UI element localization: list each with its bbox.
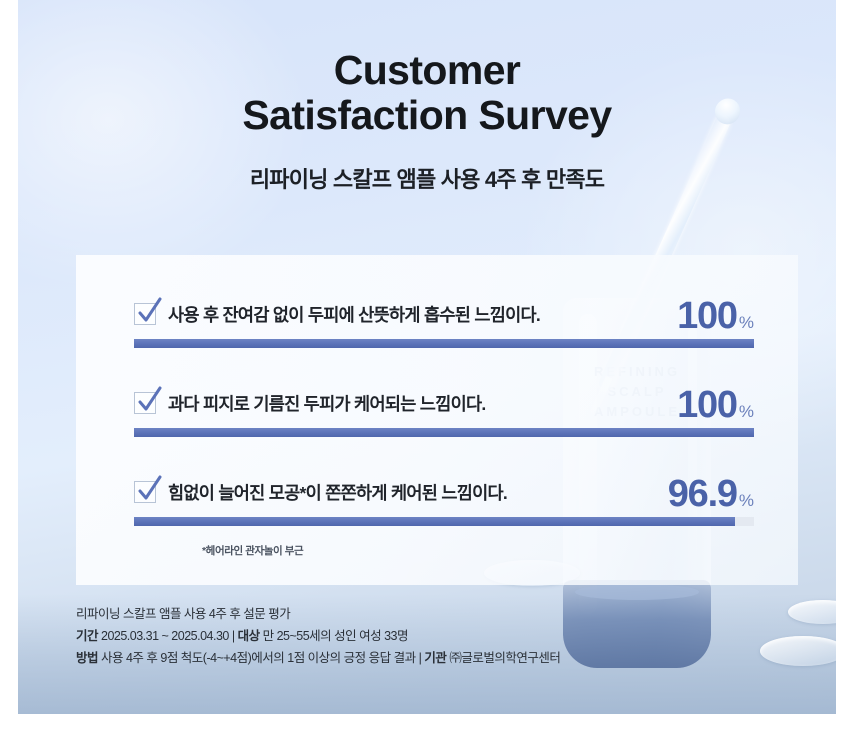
method-value: 사용 4주 후 9점 척도(-4~+4점)에서의 1점 이상의 긍정 응답 결과 [101,651,416,665]
survey-percent: 100 % [677,386,754,424]
results-card: 사용 후 잔여감 없이 두피에 산뜻하게 흡수된 느낌이다. 100 % 과다 … [76,255,798,585]
survey-statement: 사용 후 잔여감 없이 두피에 산뜻하게 흡수된 느낌이다. [168,302,540,327]
target-value: 만 25~55세의 성인 여성 33명 [263,629,408,643]
survey-row: 과다 피지로 기름진 두피가 케어되는 느낌이다. 100 % [134,384,754,437]
poster-panel: REFININGSCALPAMPOULE Customer Satisfacti… [18,0,836,714]
progress-fill [134,517,735,526]
survey-row: 사용 후 잔여감 없이 두피에 산뜻하게 흡수된 느낌이다. 100 % [134,295,754,348]
disclaimer-line-3: 방법 사용 4주 후 9점 척도(-4~+4점)에서의 1점 이상의 긍정 응답… [76,647,806,669]
survey-row: 힘없이 늘어진 모공*이 쫀쫀하게 케어된 느낌이다. 96.9 % [134,473,754,526]
survey-percent-value: 100 [677,386,737,424]
survey-percent: 96.9 % [668,475,754,513]
footnote: *헤어라인 관자놀이 부근 [202,543,303,558]
period-label: 기간 [76,629,98,643]
agency-label: 기관 [424,651,446,665]
period-value: 2025.03.31 ~ 2025.04.30 [101,629,229,643]
percent-symbol: % [739,491,754,511]
survey-percent-value: 96.9 [668,475,737,513]
page-title: Customer Satisfaction Survey [18,48,836,138]
checkmark-icon [134,392,156,414]
survey-statement: 과다 피지로 기름진 두피가 케어되는 느낌이다. [168,391,486,416]
progress-track [134,339,754,348]
progress-track [134,428,754,437]
survey-statement: 힘없이 늘어진 모공*이 쫀쫀하게 케어된 느낌이다. [168,480,507,505]
page-title-line1: Customer [334,47,521,93]
progress-track [134,517,754,526]
checkmark-icon [134,481,156,503]
disclaimer-line-1: 리파이닝 스칼프 앰플 사용 4주 후 설문 평가 [76,603,806,625]
survey-row-header: 과다 피지로 기름진 두피가 케어되는 느낌이다. 100 % [134,384,754,422]
checkmark-icon [134,303,156,325]
target-label: 대상 [238,629,260,643]
page-title-line2: Satisfaction Survey [242,92,611,138]
method-label: 방법 [76,651,98,665]
survey-row-header: 사용 후 잔여감 없이 두피에 산뜻하게 흡수된 느낌이다. 100 % [134,295,754,333]
disclaimer-line-2: 기간 2025.03.31 ~ 2025.04.30 | 대상 만 25~55세… [76,625,806,647]
survey-percent: 100 % [677,297,754,335]
disclaimer-separator: | [419,651,422,665]
percent-symbol: % [739,402,754,422]
agency-value: ㈜글로벌의학연구센터 [449,651,560,665]
disclaimer-block: 리파이닝 스칼프 앰플 사용 4주 후 설문 평가 기간 2025.03.31 … [76,603,806,669]
survey-percent-value: 100 [677,297,737,335]
progress-fill [134,339,754,348]
survey-row-header: 힘없이 늘어진 모공*이 쫀쫀하게 케어된 느낌이다. 96.9 % [134,473,754,511]
percent-symbol: % [739,313,754,333]
page-subtitle: 리파이닝 스칼프 앰플 사용 4주 후 만족도 [18,162,836,194]
disclaimer-separator: | [232,629,235,643]
progress-fill [134,428,754,437]
